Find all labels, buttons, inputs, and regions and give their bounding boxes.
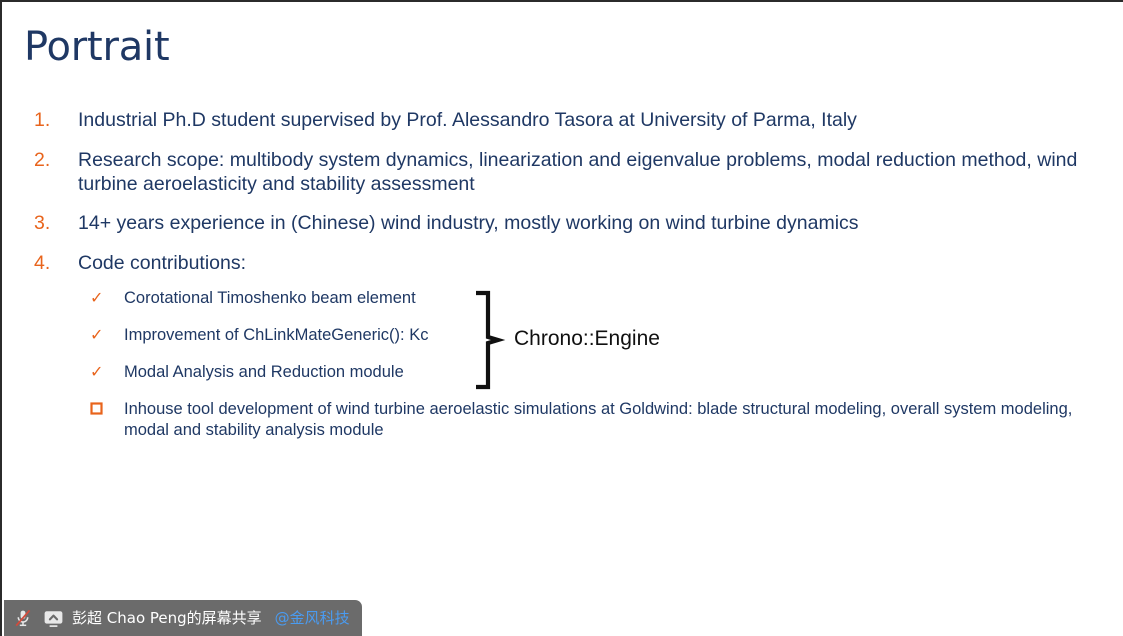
list-item-text: Research scope: multibody system dynamic… <box>78 148 1086 196</box>
page-title: Portrait <box>24 23 169 71</box>
organization-label: @金风科技 <box>275 608 350 628</box>
screen-share-bar[interactable]: 彭超 Chao Peng的屏幕共享 @金风科技 <box>4 600 362 636</box>
microphone-muted-icon[interactable] <box>12 607 34 629</box>
list-item: 4. Code contributions: <box>26 251 1086 276</box>
list-marker: 2. <box>26 148 78 173</box>
square-bullet-icon <box>90 399 124 422</box>
list-item: Inhouse tool development of wind turbine… <box>90 399 1080 441</box>
list-item: 3. 14+ years experience in (Chinese) win… <box>26 211 1086 236</box>
brace-label: Chrono::Engine <box>514 326 660 352</box>
list-item-text: Inhouse tool development of wind turbine… <box>124 399 1080 441</box>
screen-share-icon[interactable] <box>42 607 64 629</box>
slide-canvas: Portrait 1. Industrial Ph.D student supe… <box>0 0 1123 636</box>
list-item-text: 14+ years experience in (Chinese) wind i… <box>78 211 1086 235</box>
list-item-text: Code contributions: <box>78 251 1086 275</box>
list-marker: 4. <box>26 251 78 276</box>
list-item: 2. Research scope: multibody system dyna… <box>26 148 1086 196</box>
list-item-text: Industrial Ph.D student supervised by Pr… <box>78 108 1086 132</box>
list-marker: 1. <box>26 108 78 133</box>
numbered-list: 1. Industrial Ph.D student supervised by… <box>26 108 1086 291</box>
list-item: 1. Industrial Ph.D student supervised by… <box>26 108 1086 133</box>
check-icon: ✓ <box>90 325 124 347</box>
brace-annotation: Chrono::Engine <box>472 290 732 390</box>
check-icon: ✓ <box>90 288 124 310</box>
list-marker: 3. <box>26 211 78 236</box>
check-icon: ✓ <box>90 362 124 384</box>
presenter-name-label: 彭超 Chao Peng的屏幕共享 <box>72 608 262 628</box>
